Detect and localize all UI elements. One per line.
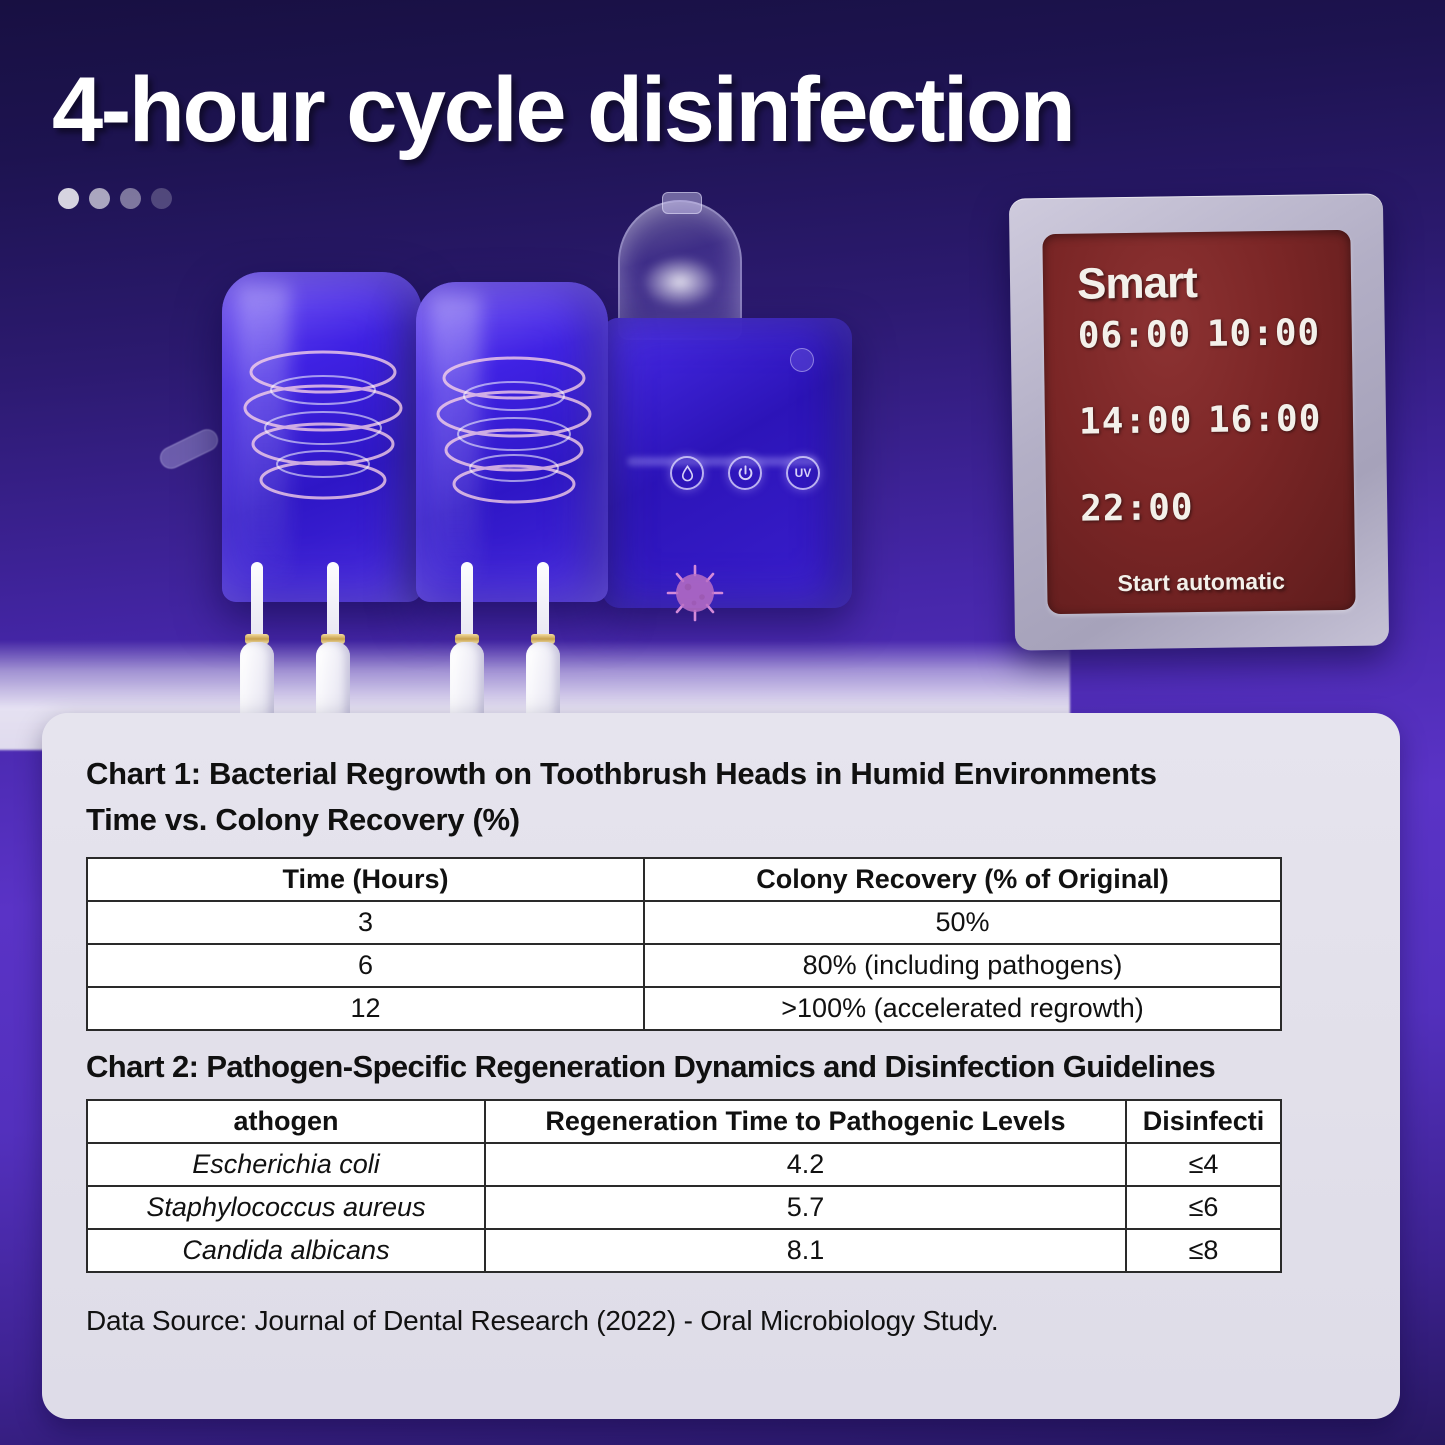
chart1-r0-c1: 50% bbox=[644, 901, 1281, 944]
chart1-r1-c1: 80% (including pathogens) bbox=[644, 944, 1281, 987]
toothbrush-3 bbox=[450, 562, 484, 732]
smart-timer-panel[interactable]: Smart 06:00 10:00 14:00 16:00 22:00 Star… bbox=[1009, 193, 1389, 650]
chart1-r2-c0: 12 bbox=[87, 987, 644, 1030]
table-row: Staphylococcus aureus 5.7 ≤6 bbox=[87, 1186, 1281, 1229]
product-image: UV bbox=[150, 190, 910, 730]
chart2-r2-c0: Candida albicans bbox=[87, 1229, 485, 1272]
smart-title: Smart bbox=[1077, 256, 1326, 309]
chart1-r1-c0: 6 bbox=[87, 944, 644, 987]
status-led-icon bbox=[790, 348, 814, 372]
schedule-time-1: 06:00 bbox=[1078, 314, 1198, 398]
chart2-r1-c1: 5.7 bbox=[485, 1186, 1126, 1229]
toothbrush-heads bbox=[196, 542, 816, 732]
uv-dome-cap bbox=[662, 192, 702, 214]
chart1-heading: Chart 1: Bacterial Regrowth on Toothbrus… bbox=[86, 751, 1356, 843]
chart2-col-header-2: Disinfecti bbox=[1126, 1100, 1281, 1143]
data-panel: Chart 1: Bacterial Regrowth on Toothbrus… bbox=[42, 713, 1400, 1419]
toothbrush-1 bbox=[240, 562, 274, 732]
chart2-r1-c2: ≤6 bbox=[1126, 1186, 1281, 1229]
schedule-time-3: 14:00 bbox=[1079, 400, 1199, 484]
toothbrush-2 bbox=[316, 562, 350, 732]
device-control-buttons[interactable]: UV bbox=[670, 456, 820, 490]
chart2-r2-c2: ≤8 bbox=[1126, 1229, 1281, 1272]
page-title: 4-hour cycle disinfection bbox=[52, 58, 1073, 163]
chart2-title: Chart 2: Pathogen-Specific Regeneration … bbox=[86, 1049, 1356, 1085]
chart2-col-header-0: athogen bbox=[87, 1100, 485, 1143]
power-icon[interactable] bbox=[728, 456, 762, 490]
chart1-subtitle: Time vs. Colony Recovery (%) bbox=[86, 797, 1356, 843]
smart-subtitle: Start automatic bbox=[1081, 567, 1329, 597]
schedule-time-grid: 06:00 10:00 14:00 16:00 22:00 bbox=[1078, 312, 1330, 570]
table-row: Candida albicans 8.1 ≤8 bbox=[87, 1229, 1281, 1272]
chart1-r0-c0: 3 bbox=[87, 901, 644, 944]
chart1-col-header-0: Time (Hours) bbox=[87, 858, 644, 901]
table-row: 6 80% (including pathogens) bbox=[87, 944, 1281, 987]
schedule-time-4: 16:00 bbox=[1208, 399, 1328, 483]
smart-timer-screen: Smart 06:00 10:00 14:00 16:00 22:00 Star… bbox=[1042, 230, 1355, 614]
dry-mode-icon[interactable] bbox=[670, 456, 704, 490]
chart2-r0-c1: 4.2 bbox=[485, 1143, 1126, 1186]
table-header-row: athogen Regeneration Time to Pathogenic … bbox=[87, 1100, 1281, 1143]
table-header-row: Time (Hours) Colony Recovery (% of Origi… bbox=[87, 858, 1281, 901]
poster-canvas: 4-hour cycle disinfection bbox=[0, 0, 1445, 1445]
chart2-col-header-1: Regeneration Time to Pathogenic Levels bbox=[485, 1100, 1126, 1143]
carousel-dot-3[interactable] bbox=[120, 188, 141, 209]
data-source-note: Data Source: Journal of Dental Research … bbox=[86, 1305, 1356, 1337]
table-row: Escherichia coli 4.2 ≤4 bbox=[87, 1143, 1281, 1186]
chart1-r2-c1: >100% (accelerated regrowth) bbox=[644, 987, 1281, 1030]
carousel-dot-2[interactable] bbox=[89, 188, 110, 209]
chart1-col-header-1: Colony Recovery (% of Original) bbox=[644, 858, 1281, 901]
table-row: 3 50% bbox=[87, 901, 1281, 944]
chart2-r2-c1: 8.1 bbox=[485, 1229, 1126, 1272]
chart2-r0-c0: Escherichia coli bbox=[87, 1143, 485, 1186]
toothbrush-4 bbox=[526, 562, 560, 732]
schedule-time-2: 10:00 bbox=[1206, 312, 1326, 396]
carousel-dot-1[interactable] bbox=[58, 188, 79, 209]
schedule-time-5: 22:00 bbox=[1080, 487, 1200, 571]
chart2-r0-c2: ≤4 bbox=[1126, 1143, 1281, 1186]
chart2-table: athogen Regeneration Time to Pathogenic … bbox=[86, 1099, 1282, 1273]
uv-icon[interactable]: UV bbox=[786, 456, 820, 490]
chart1-table: Time (Hours) Colony Recovery (% of Origi… bbox=[86, 857, 1282, 1031]
chart1-title: Chart 1: Bacterial Regrowth on Toothbrus… bbox=[86, 751, 1356, 797]
table-row: 12 >100% (accelerated regrowth) bbox=[87, 987, 1281, 1030]
bacteria-rod-icon bbox=[156, 426, 221, 473]
chart2-r1-c0: Staphylococcus aureus bbox=[87, 1186, 485, 1229]
